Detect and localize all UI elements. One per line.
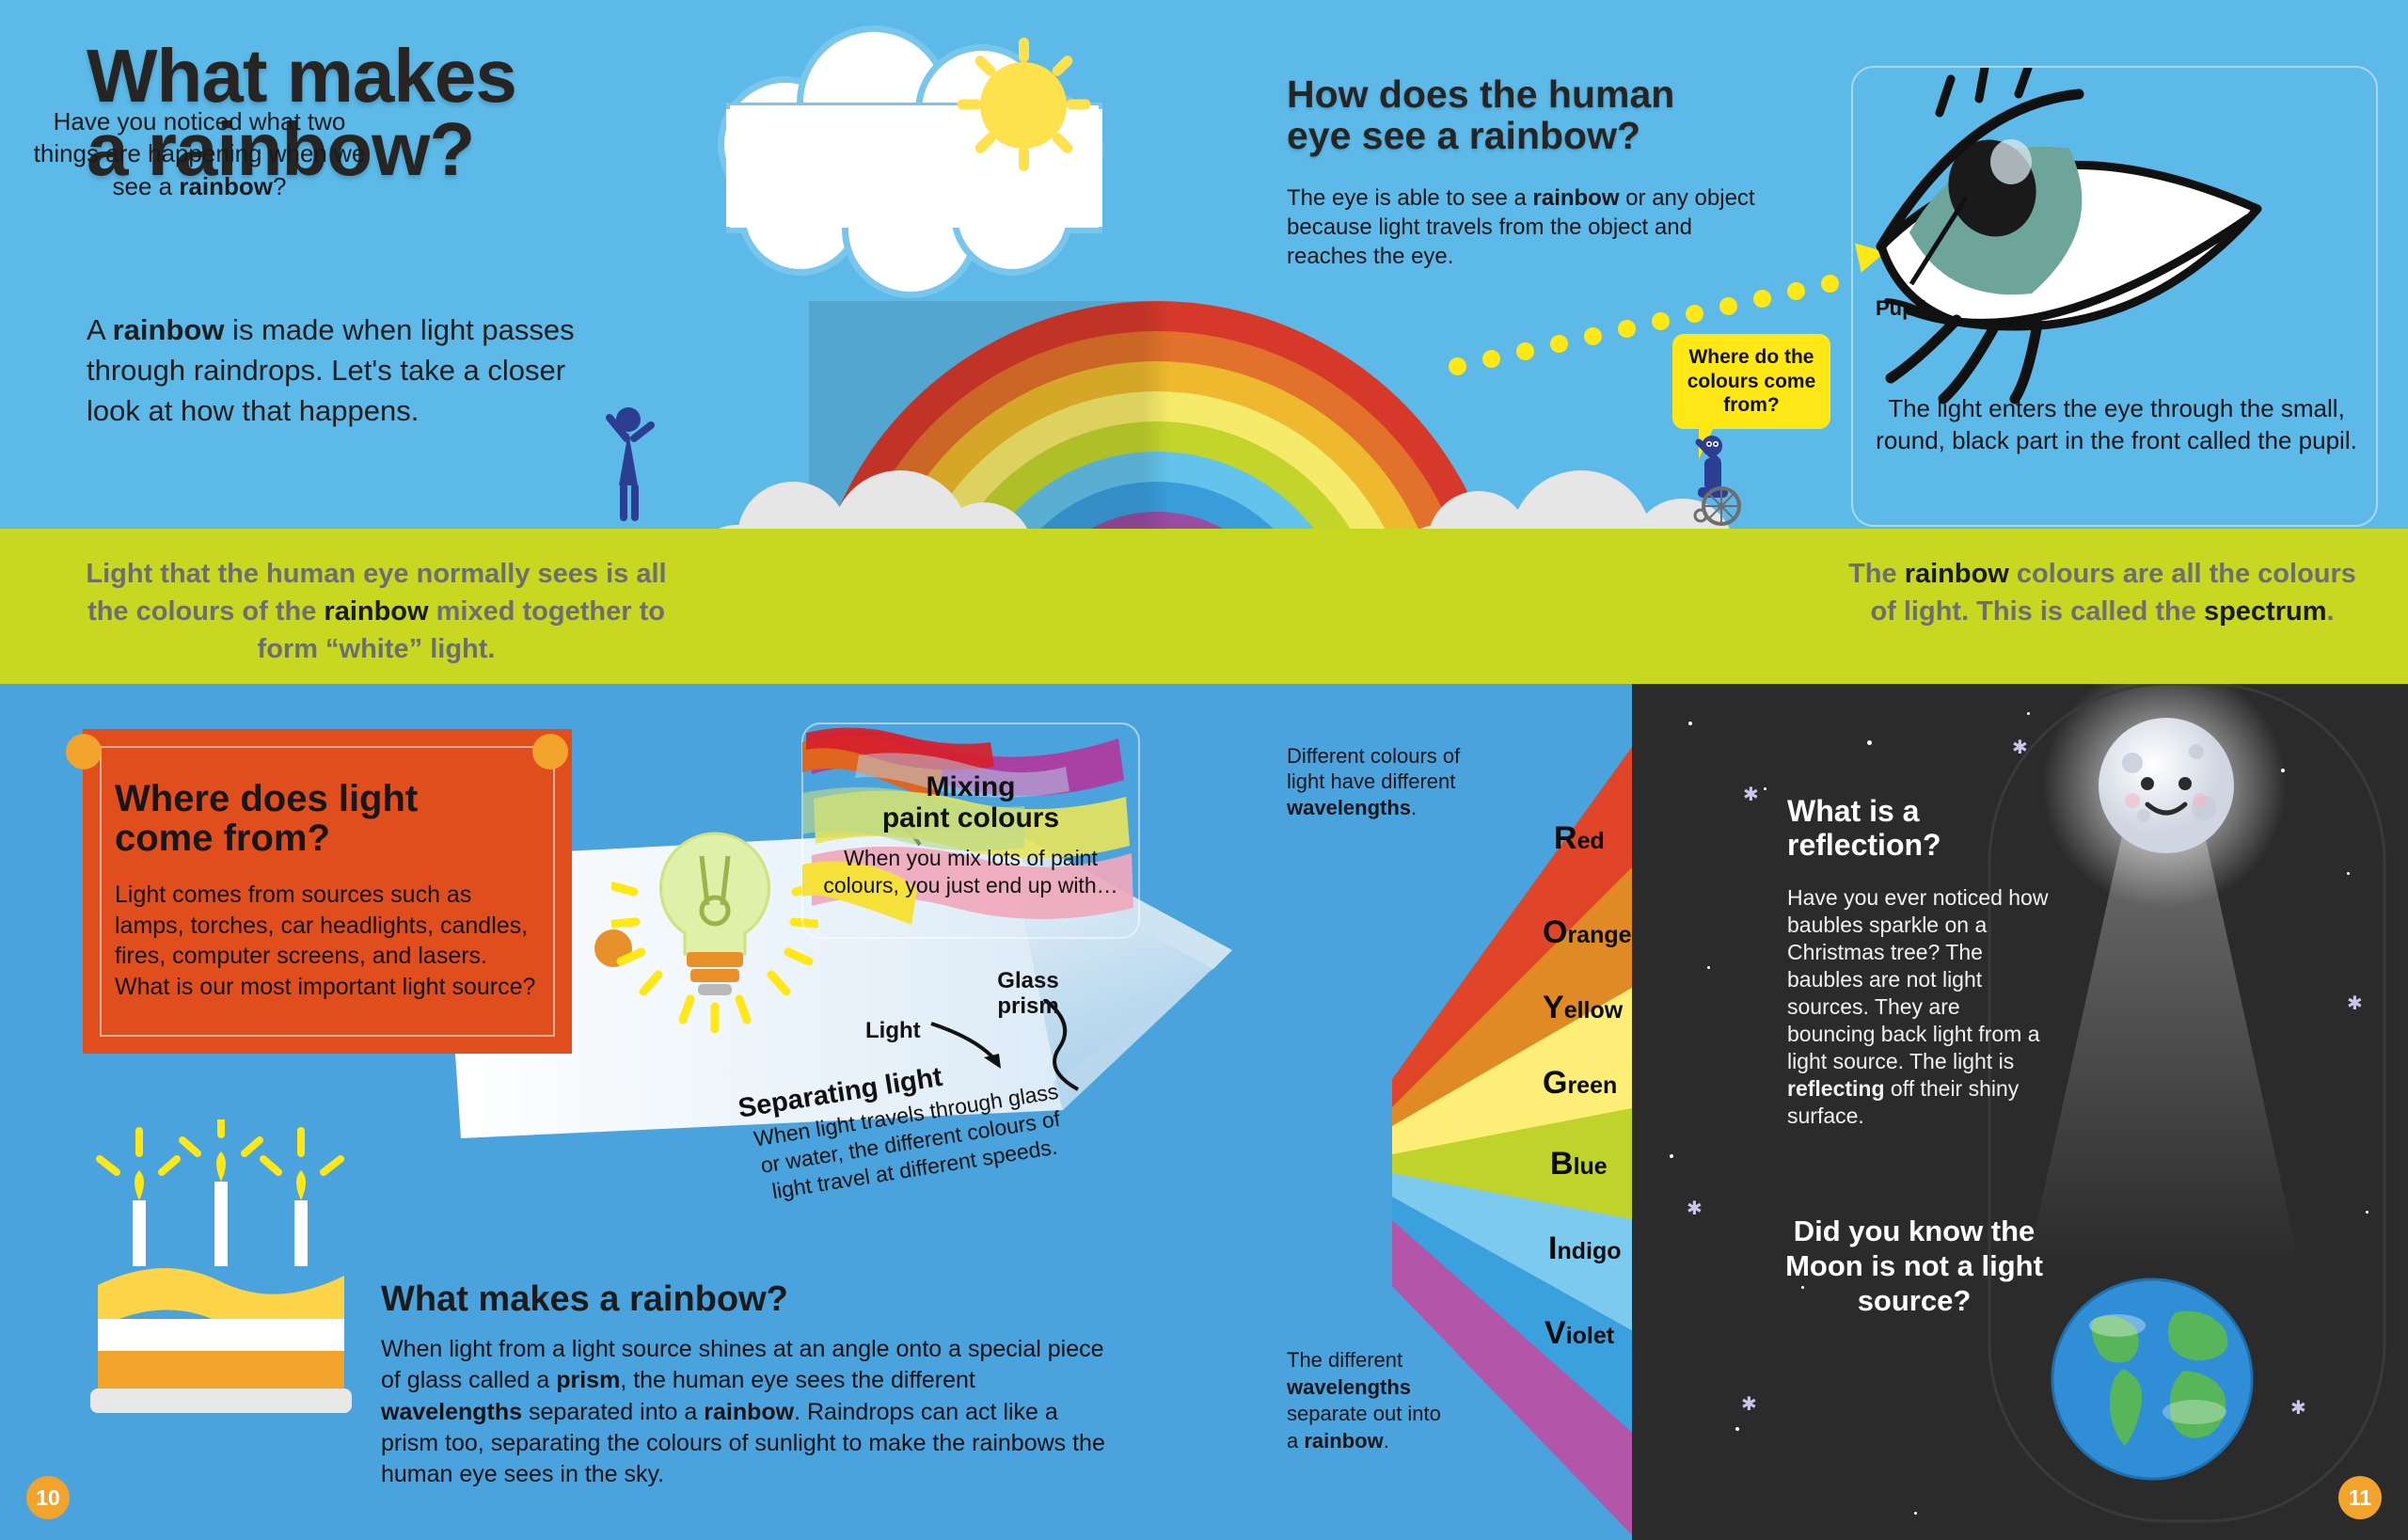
bottom-question-title: What makes a rainbow? xyxy=(381,1279,1115,1320)
page-number-right: 11 xyxy=(2338,1476,2382,1519)
spectrum-rest-orange: range xyxy=(1567,922,1631,948)
spectrum-rest-indigo: ndigo xyxy=(1557,1238,1621,1264)
spread-page: What makes a rainbow? A rainbow is made … xyxy=(0,0,2408,1540)
person-wheelchair-icon xyxy=(1693,433,1806,527)
birthday-cake-icon xyxy=(85,1119,357,1430)
eye-section-heading: How does the human eye see a rainbow? xyxy=(1287,73,1776,157)
eye-heading-line2: eye see a rainbow? xyxy=(1287,115,1776,156)
spectrum-label-yellow: Yellow xyxy=(1543,990,1623,1026)
spectrum-label-red: Red xyxy=(1554,820,1605,857)
did-you-know-text: Did you know the Moon is not a light sou… xyxy=(1773,1214,2055,1319)
mixing-paint-title-line2: paint colours xyxy=(811,802,1131,834)
eye-diagram-panel xyxy=(1851,66,2378,527)
spectrum-cap-violet: V xyxy=(1545,1315,1566,1351)
light-bulb-icon xyxy=(611,800,818,1044)
spectrum-rest-green: reen xyxy=(1567,1072,1617,1099)
reflection-title: What is a reflection? xyxy=(1787,795,2060,863)
pupil-label: Pupil xyxy=(1876,296,1926,321)
spectrum-label-violet: Violet xyxy=(1545,1315,1614,1352)
spectrum-cap-blue: B xyxy=(1550,1146,1574,1182)
spectrum-cap-yellow: Y xyxy=(1543,990,1564,1025)
speech-bubble-text: Where do the colours come from? xyxy=(1687,346,1816,416)
person-standing-icon xyxy=(594,405,670,527)
sun-icon xyxy=(952,34,1093,175)
earth-icon xyxy=(2044,1271,2260,1487)
spectrum-cap-green: G xyxy=(1543,1065,1567,1101)
light-source-title-line2: come from? xyxy=(115,818,538,858)
spectrum-label-blue: Blue xyxy=(1550,1146,1608,1183)
light-source-card-body: Light comes from sources such as lamps, … xyxy=(115,880,538,1002)
reflection-title-line2: reflection? xyxy=(1787,829,2060,863)
page-number-left: 10 xyxy=(26,1476,70,1519)
spectrum-rest-yellow: ellow xyxy=(1564,997,1624,1024)
page-title-line1: What makes xyxy=(87,40,745,113)
spectrum-cap-red: R xyxy=(1554,820,1577,856)
wavelength-note-bottom: The different wavelengths separate out i… xyxy=(1287,1347,1447,1454)
eye-section-body: The eye is able to see a rainbow or any … xyxy=(1287,183,1757,272)
intro-paragraph: A rainbow is made when light passes thro… xyxy=(87,310,623,431)
spectrum-rest-blue: lue xyxy=(1574,1153,1608,1180)
spectrum-rest-violet: iolet xyxy=(1566,1323,1614,1349)
pin-right-icon xyxy=(532,734,568,770)
green-banner-left-text: Light that the human eye normally sees i… xyxy=(85,555,668,668)
spectrum-label-orange: Orange xyxy=(1543,914,1632,951)
mixing-paint-title-line1: Mixing xyxy=(811,771,1131,802)
wavelength-note-top: Different colours of light have differen… xyxy=(1287,743,1475,820)
mixing-paint-body: When you mix lots of paint colours, you … xyxy=(811,845,1131,899)
speech-bubble-colours: Where do the colours come from? xyxy=(1672,334,1830,429)
pin-left-icon xyxy=(66,734,102,770)
bottom-question-body: When light from a light source shines at… xyxy=(381,1334,1105,1490)
spectrum-label-indigo: Indigo xyxy=(1548,1230,1621,1267)
reflection-body: Have you ever noticed how baubles sparkl… xyxy=(1787,884,2051,1130)
spectrum-rest-red: ed xyxy=(1577,828,1605,854)
light-source-title-line1: Where does light xyxy=(115,779,538,818)
green-banner-right-text: The rainbow colours are all the colours … xyxy=(1839,555,2366,630)
cloud-bubble-text: Have you noticed what two things are hap… xyxy=(21,105,378,202)
spectrum-label-green: Green xyxy=(1543,1065,1617,1102)
eye-caption: The light enters the eye through the sma… xyxy=(1867,393,2366,457)
label-light: Light xyxy=(865,1018,921,1044)
mixing-paint-title: Mixing paint colours xyxy=(811,771,1131,834)
eye-heading-line1: How does the human xyxy=(1287,73,1776,115)
light-source-card-title: Where does light come from? xyxy=(115,779,538,858)
spectrum-cap-orange: O xyxy=(1543,914,1567,950)
moon-icon xyxy=(2091,710,2242,861)
reflection-title-line1: What is a xyxy=(1787,795,2060,829)
label-glass-prism-line1: Glass xyxy=(986,969,1070,994)
